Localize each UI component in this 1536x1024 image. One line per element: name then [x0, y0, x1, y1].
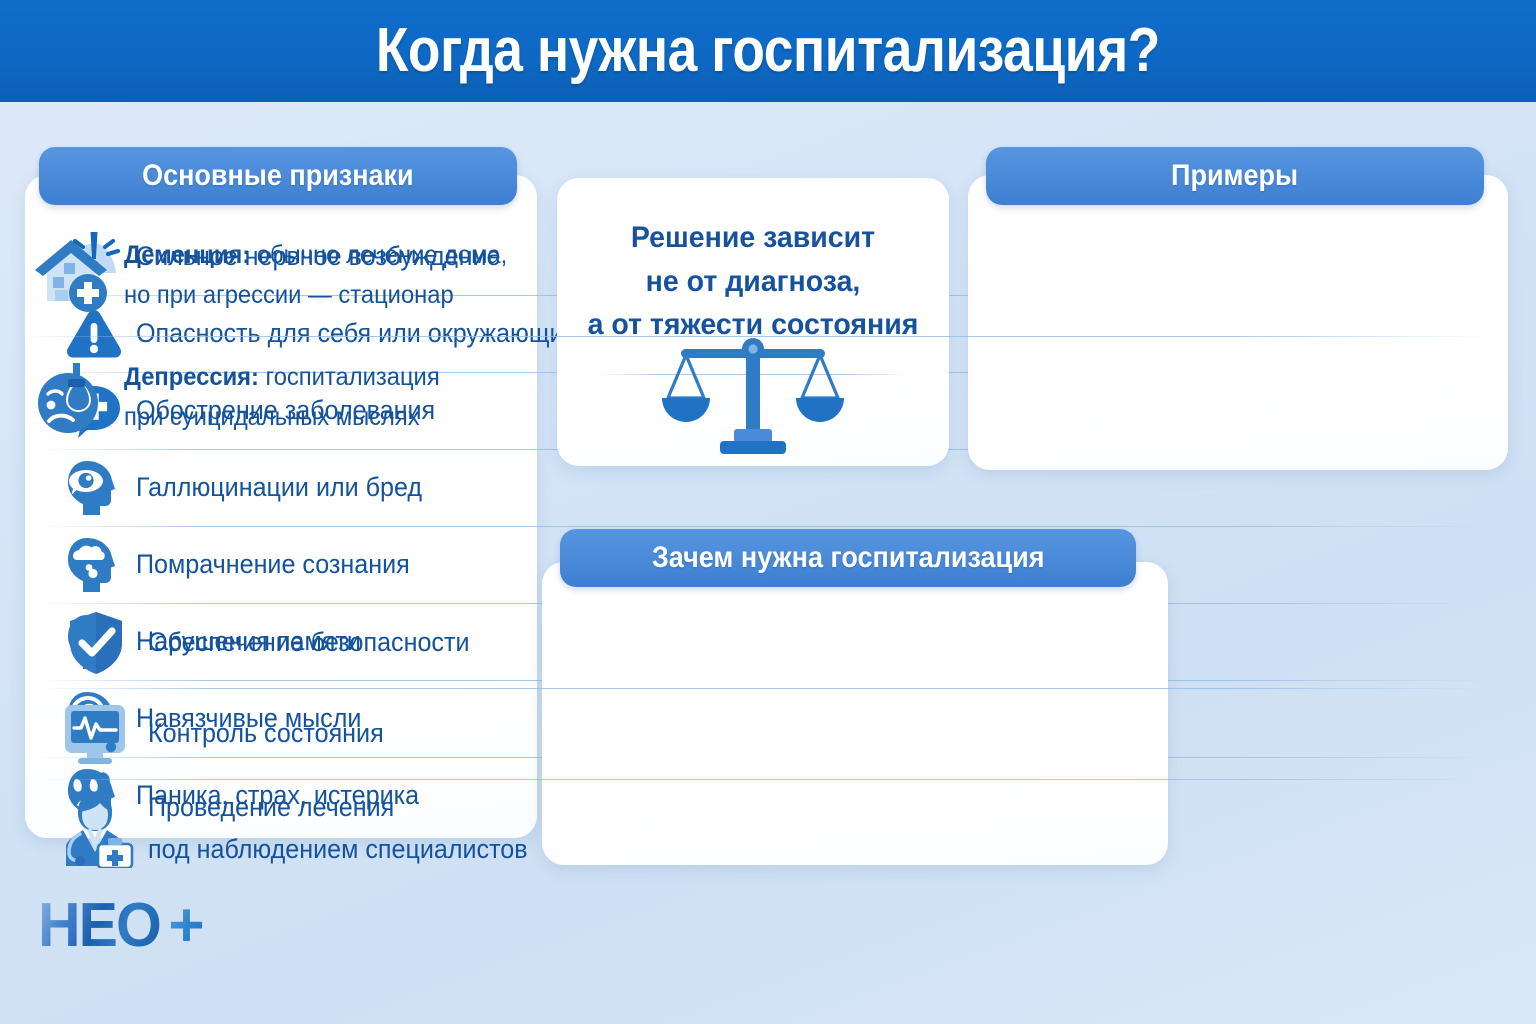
- head-cloud-icon: [58, 535, 130, 595]
- examples-panel-tab: Примеры: [986, 147, 1484, 205]
- example-text-line-2: но при агрессии — стационар: [124, 281, 454, 309]
- list-item[interactable]: Депрессия: госпитализация при суицидальн…: [20, 336, 1512, 458]
- why-panel-title: Зачем нужна госпитализация: [652, 543, 1045, 573]
- page-title: Когда нужна госпитализация?: [376, 20, 1160, 82]
- list-item-label: Помрачнение сознания: [136, 548, 410, 580]
- example-text-line-2: при суицидальных мыслях: [124, 403, 420, 431]
- logo-wordmark: НЕО: [38, 895, 160, 957]
- sad-face-teardrop-icon: [30, 354, 116, 440]
- why-panel-tab: Зачем нужна госпитализация: [560, 529, 1136, 587]
- example-text-line-1: госпитализация: [259, 363, 440, 391]
- logo: НЕО +: [38, 895, 205, 957]
- list-item-label: Контроль состояния: [148, 717, 384, 749]
- logo-plus-icon: +: [168, 895, 204, 957]
- house-medical-icon: [30, 232, 116, 318]
- list-item-label: Галлюцинации или бред: [136, 471, 422, 503]
- signs-panel-title: Основные признаки: [142, 161, 414, 191]
- why-list: Обеспечение безопасности Контроль состоя…: [38, 597, 1508, 879]
- example-text: Деменция: обычно лечение дома, но при аг…: [124, 235, 507, 316]
- list-item[interactable]: Контроль состояния: [38, 688, 1508, 779]
- example-term: Деменция:: [124, 241, 250, 269]
- examples-list: Деменция: обычно лечение дома, но при аг…: [20, 214, 1512, 458]
- example-text: Депрессия: госпитализация при суицидальн…: [124, 357, 440, 438]
- infographic-poster: Когда нужна госпитализация? Основные при…: [0, 0, 1536, 1024]
- doctor-icon: [58, 792, 134, 866]
- list-item-label: Обеспечение безопасности: [148, 626, 470, 658]
- list-item[interactable]: Обеспечение безопасности: [38, 597, 1508, 688]
- signs-panel-tab: Основные признаки: [39, 147, 517, 205]
- head-eye-icon: [58, 458, 130, 518]
- list-item-label: Проведение лечения под наблюдением специ…: [148, 787, 528, 871]
- example-text-line-1: обычно лечение дома,: [250, 241, 507, 269]
- list-item-label-line-2: под наблюдением специалистов: [148, 834, 528, 864]
- list-item[interactable]: Проведение лечения под наблюдением специ…: [38, 779, 1508, 879]
- shield-check-icon: [58, 606, 134, 680]
- examples-panel-title: Примеры: [1171, 161, 1298, 191]
- example-term: Депрессия:: [124, 363, 259, 391]
- list-item-label-line-1: Проведение лечения: [148, 792, 394, 822]
- header-bar: Когда нужна госпитализация?: [0, 0, 1536, 102]
- heart-monitor-icon: [58, 697, 134, 771]
- list-item[interactable]: Деменция: обычно лечение дома, но при аг…: [20, 214, 1512, 336]
